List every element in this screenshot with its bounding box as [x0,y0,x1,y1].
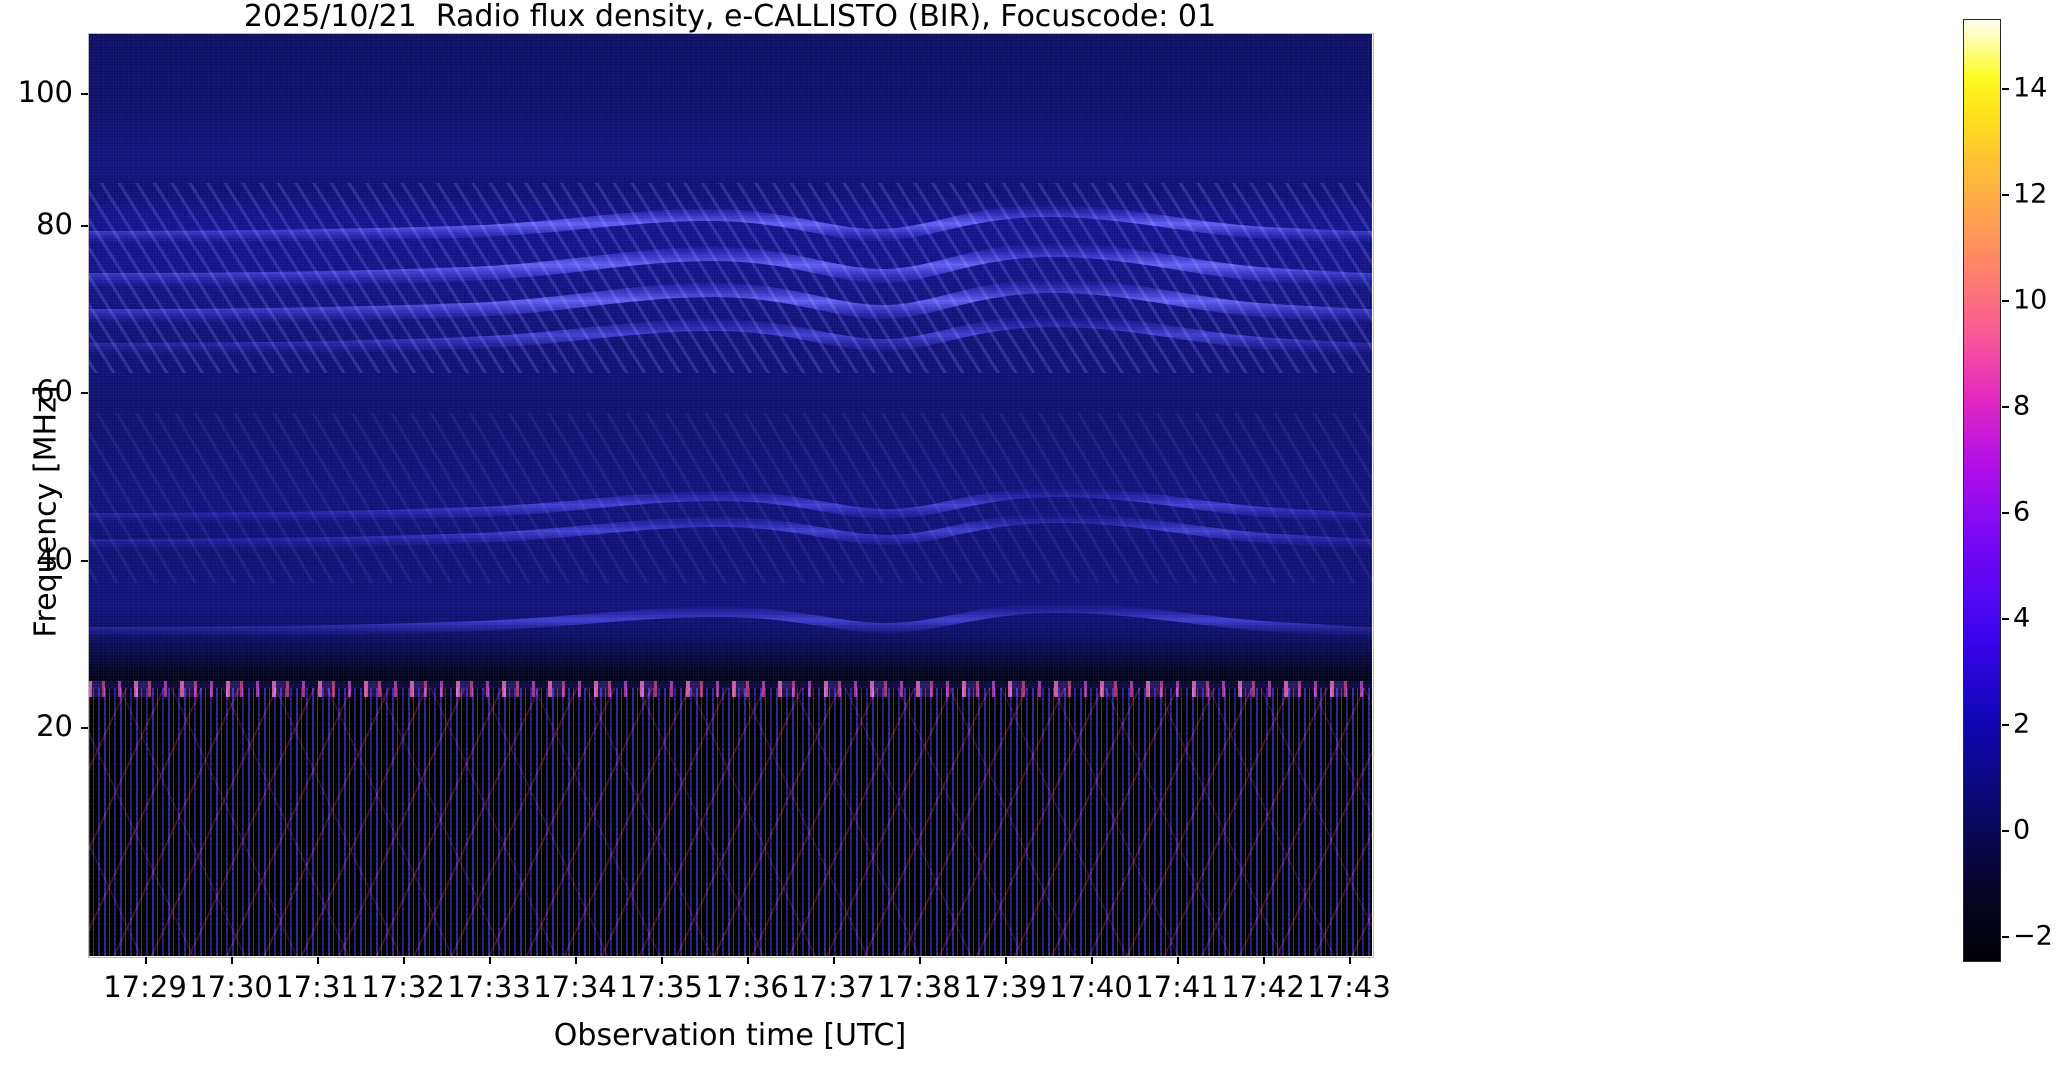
x-tick-mark [575,957,577,964]
spectrogram-plot[interactable] [88,33,1372,956]
y-axis-label: Frequency [MHz] [29,262,64,762]
colorbar-tick-mark [2002,300,2009,302]
x-tick-label: 17:36 [705,971,789,1003]
x-tick-mark [231,957,233,964]
x-tick-mark [489,957,491,964]
x-tick-label: 17:29 [103,971,187,1003]
colorbar-tick-label: 8 [2013,393,2030,420]
x-axis-label: Observation time [UTC] [88,1018,1372,1053]
colorbar-tick-label: 0 [2013,817,2030,844]
x-tick-mark [919,957,921,964]
x-tick-label: 17:30 [189,971,273,1003]
colorbar-tick-mark [2002,88,2009,90]
x-tick-mark [403,957,405,964]
y-tick-mark [81,727,88,729]
x-tick-mark [1005,957,1007,964]
colorbar-tick-label: 14 [2013,75,2047,102]
x-tick-mark [1349,957,1351,964]
x-tick-label: 17:43 [1307,971,1391,1003]
y-tick-mark [81,225,88,227]
x-tick-label: 17:37 [791,971,875,1003]
x-tick-label: 17:31 [275,971,359,1003]
colorbar-tick-mark [2002,618,2009,620]
y-tick-mark [81,560,88,562]
colorbar-tick-label: 12 [2013,181,2047,208]
x-tick-mark [1263,957,1265,964]
x-tick-label: 17:39 [963,971,1047,1003]
colorbar-tick-mark [2002,724,2009,726]
colorbar-tick-label: 10 [2013,287,2047,314]
colorbar-tick-mark [2002,194,2009,196]
colorbar-tick-label: −2 [2013,923,2053,950]
y-tick-label: 80 [0,210,73,239]
x-tick-label: 17:38 [877,971,961,1003]
x-tick-label: 17:33 [447,971,531,1003]
x-tick-label: 17:42 [1221,971,1305,1003]
x-tick-label: 17:35 [619,971,703,1003]
colorbar-tick-mark [2002,830,2009,832]
x-tick-label: 17:34 [533,971,617,1003]
x-tick-mark [145,957,147,964]
page-title: 2025/10/21 Radio flux density, e-CALLIST… [88,2,1372,32]
colorbar-tick-mark [2002,512,2009,514]
y-tick-mark [81,392,88,394]
x-tick-mark [661,957,663,964]
x-tick-mark [317,957,319,964]
saturated-30mhz-line [88,681,1372,697]
x-tick-mark [833,957,835,964]
x-tick-mark [1091,957,1093,964]
colorbar-tick-mark [2002,936,2009,938]
x-tick-label: 17:40 [1049,971,1133,1003]
x-tick-mark [1177,957,1179,964]
y-tick-label: 100 [0,78,73,107]
y-tick-mark [81,93,88,95]
colorbar-tick-label: 2 [2013,711,2030,738]
colorbar-tick-label: 6 [2013,499,2030,526]
x-tick-label: 17:32 [361,971,445,1003]
low-frequency-speckle [88,688,1372,956]
colorbar-tick-mark [2002,406,2009,408]
x-tick-label: 17:41 [1135,971,1219,1003]
x-tick-mark [747,957,749,964]
colorbar[interactable] [1963,19,2001,962]
colorbar-tick-label: 4 [2013,605,2030,632]
